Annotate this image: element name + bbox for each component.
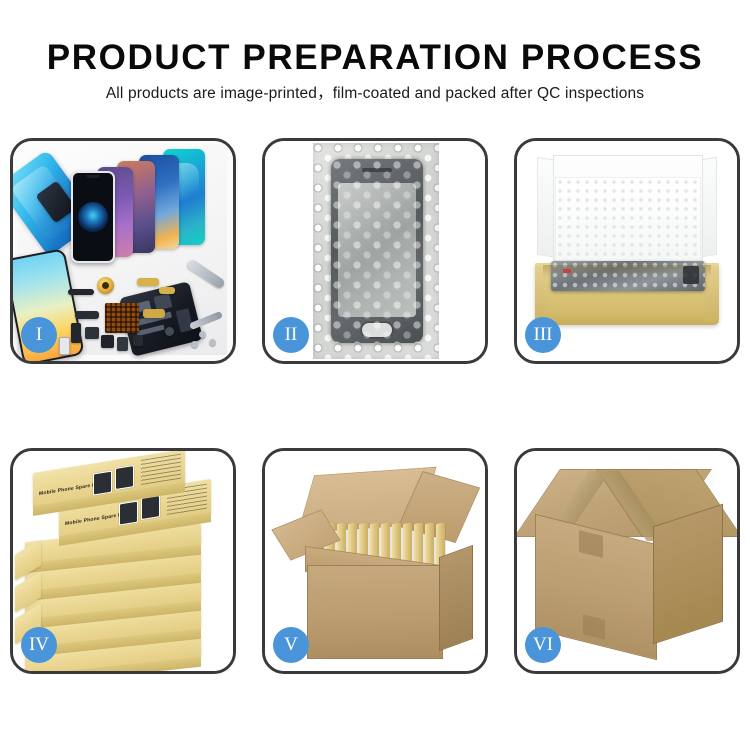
step-panel-1[interactable]: I [10, 138, 236, 364]
wrapped-screen-icon [331, 159, 423, 343]
mailer-box-icon [531, 155, 723, 345]
step-badge-2: II [273, 317, 309, 353]
open-carton-icon [281, 465, 473, 661]
step-panel-6[interactable]: VI [514, 448, 740, 674]
screen-surface [338, 183, 416, 317]
carton-side-face [439, 545, 473, 651]
sealed-carton-side-face [653, 504, 723, 645]
step-badge-1: I [21, 317, 57, 353]
screw-3-icon [191, 341, 198, 348]
step-panel-2[interactable]: II [262, 138, 488, 364]
retail-box-screen-thumb-1a [93, 471, 112, 496]
steps-grid: I II [0, 0, 750, 750]
product-preparation-infographic: PRODUCT PREPARATION PROCESS All products… [0, 0, 750, 750]
retail-box-screen-thumb-2b [141, 495, 160, 520]
part-small-5-icon [133, 335, 143, 346]
part-strip-icon [68, 289, 94, 295]
step-badge-4: IV [21, 627, 57, 663]
step-panel-3[interactable]: III [514, 138, 740, 364]
phone-black-glass-icon [71, 171, 115, 263]
part-flex-cable-2-icon [159, 287, 175, 294]
screw-1-icon [199, 331, 206, 338]
screen-red-marker-icon [563, 269, 571, 273]
retail-box-screen-thumb-2a [119, 501, 138, 526]
retail-box-screen-thumb-1b [115, 465, 134, 490]
carton-front-face [307, 565, 443, 659]
step-badge-6: VI [525, 627, 561, 663]
phone-wallpaper-icon [78, 202, 108, 232]
step-badge-5: V [273, 627, 309, 663]
foam-insert-icon [555, 177, 701, 271]
home-button-icon [362, 323, 392, 337]
part-speaker-coil-icon [97, 277, 114, 294]
phone-notch-icon [86, 175, 100, 178]
part-ribbon-icon [75, 311, 99, 319]
screen-connector-icon [683, 266, 699, 284]
earpiece-icon [362, 168, 392, 172]
mailer-box-base [535, 263, 719, 325]
part-small-1-icon [71, 323, 81, 343]
part-button-icon [165, 327, 174, 336]
screw-2-icon [209, 339, 216, 346]
step-badge-3: III [525, 317, 561, 353]
step-panel-5[interactable]: V [262, 448, 488, 674]
part-gold-flex-icon [143, 309, 165, 318]
part-small-3-icon [101, 335, 114, 348]
sealed-carton-icon [527, 467, 727, 661]
part-sim-tray-icon [59, 337, 70, 355]
retail-box-spec-lines-1 [141, 454, 181, 486]
part-connector-grid-icon [105, 303, 139, 333]
part-small-2-icon [85, 327, 99, 339]
part-flex-cable-1-icon [137, 278, 159, 286]
part-small-4-icon [117, 337, 128, 351]
step-panel-4[interactable]: Mobile Phone Spare Parts Mobile Phone Sp… [10, 448, 236, 674]
